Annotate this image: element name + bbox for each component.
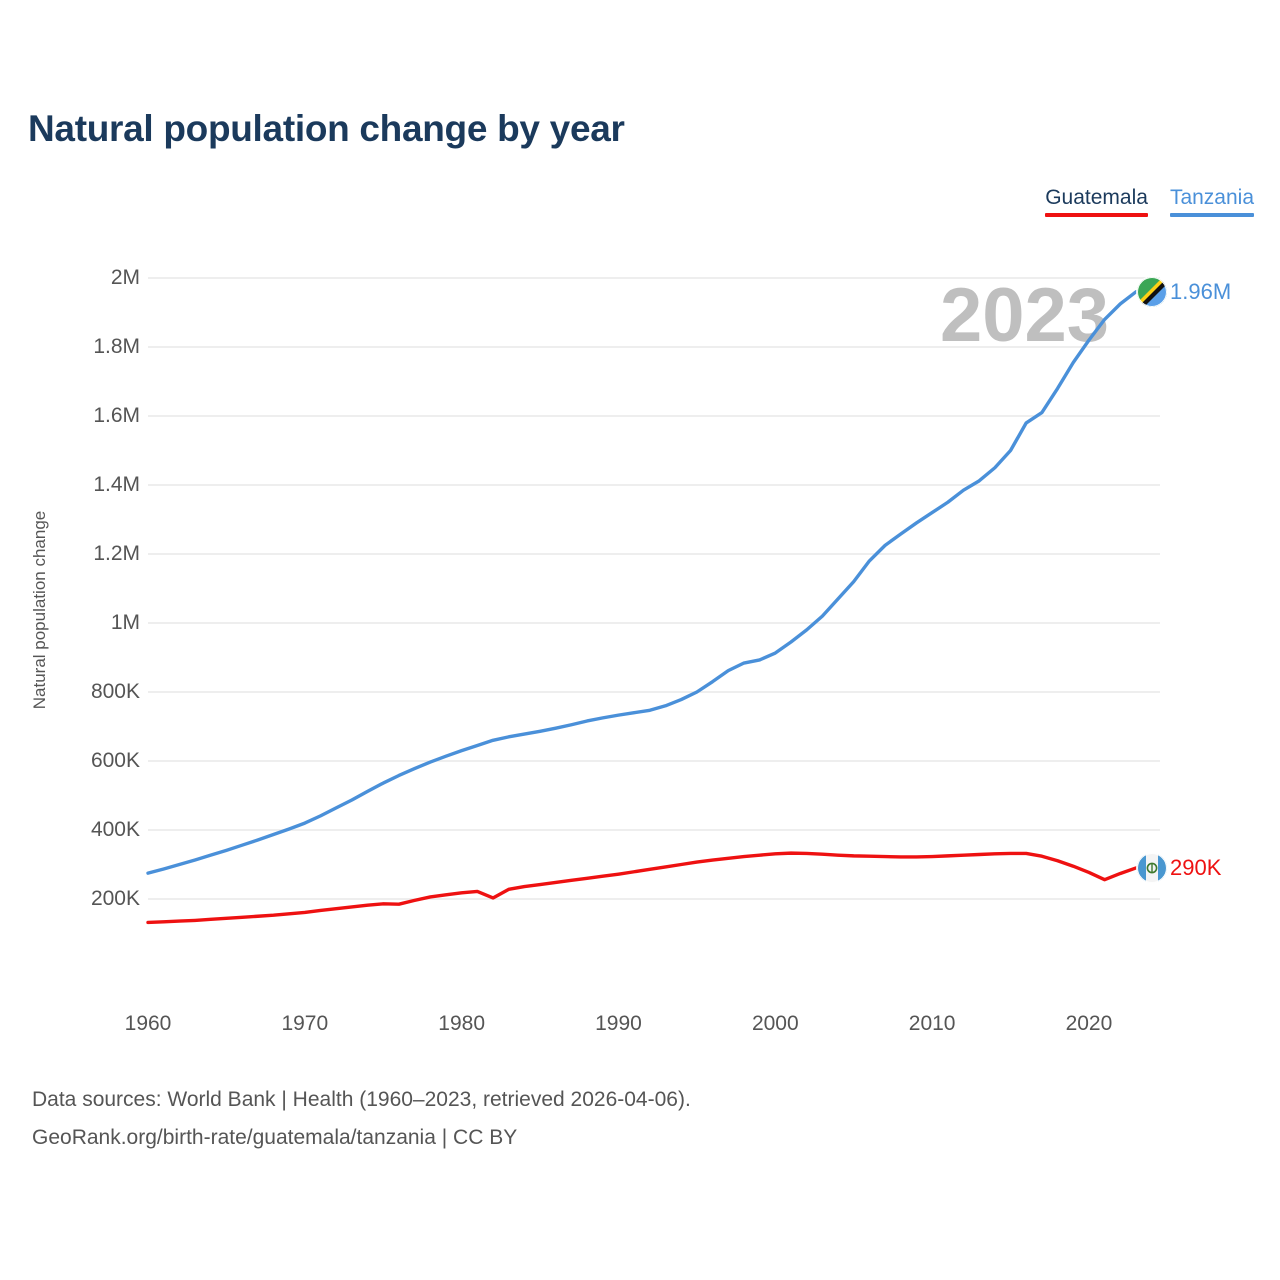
footer-attribution: GeoRank.org/birth-rate/guatemala/tanzani… [32, 1126, 517, 1150]
series-lines [148, 292, 1136, 923]
series-line-tanzania [148, 292, 1136, 873]
tanzania-flag-icon [1137, 277, 1167, 307]
footer-data-sources: Data sources: World Bank | Health (1960–… [32, 1088, 691, 1112]
guatemala-end-value: 290K [1170, 855, 1221, 881]
series-line-guatemala [148, 853, 1136, 922]
tanzania-end-value: 1.96M [1170, 279, 1231, 305]
gridlines [148, 278, 1160, 899]
chart-page: Natural population change by year Guatem… [0, 0, 1280, 1280]
guatemala-flag-icon [1137, 853, 1167, 883]
